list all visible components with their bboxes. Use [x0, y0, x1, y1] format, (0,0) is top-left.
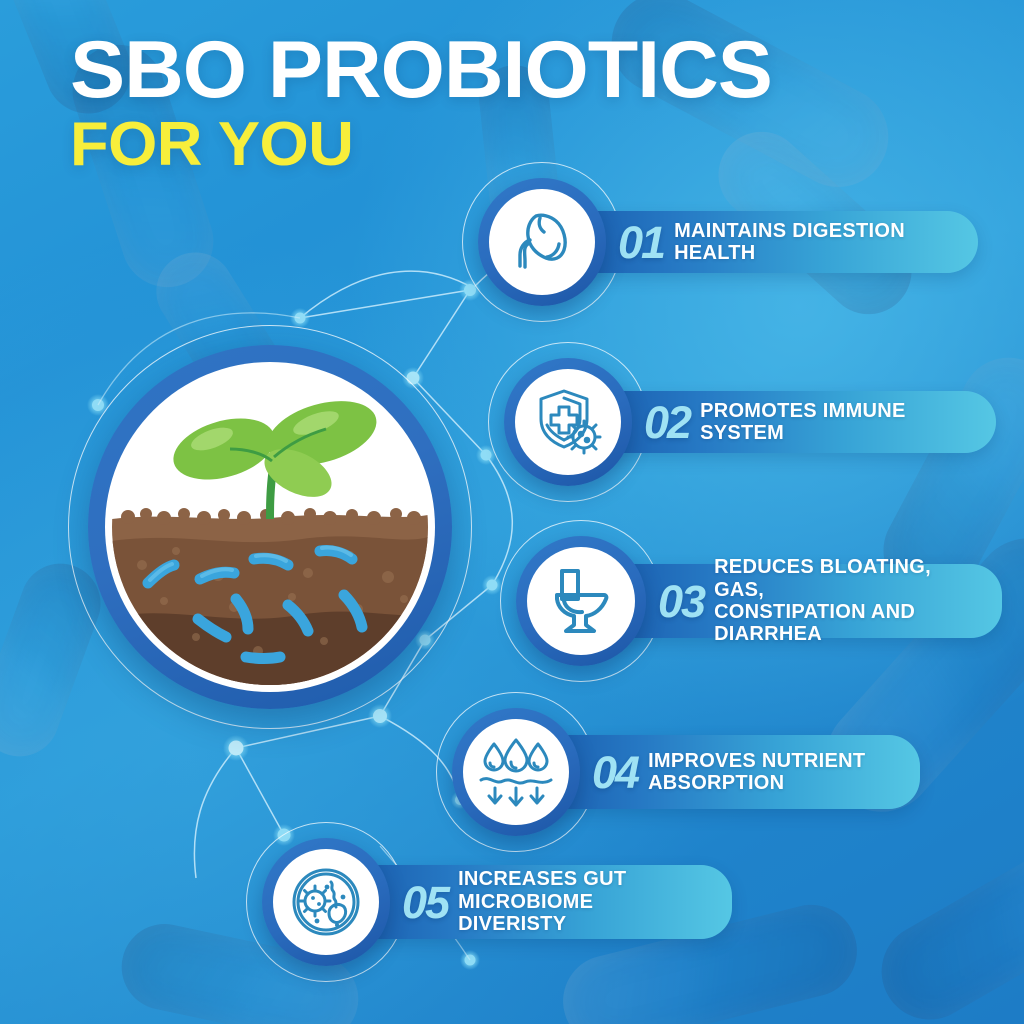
benefit-number-05: 05: [402, 880, 448, 925]
benefit-bar-03: 03 REDUCES BLOATING, GAS, CONSTIPATION A…: [612, 564, 1002, 638]
benefit-bar-01: 01 MAINTAINS DIGESTION HEALTH: [572, 211, 978, 273]
benefit-icon-bubble-04: [452, 708, 580, 836]
benefit-icon-bubble-03: [516, 536, 646, 666]
benefit-label-04: IMPROVES NUTRIENT ABSORPTION: [648, 750, 865, 795]
benefit-label-05: INCREASES GUT MICROBIOME DIVERISTY: [458, 868, 702, 935]
benefit-icon-bubble-01: [478, 178, 606, 306]
infographic-poster: SBO PROBIOTICS FOR YOU: [0, 0, 1024, 1024]
benefit-bar-04: 04 IMPROVES NUTRIENT ABSORPTION: [546, 735, 920, 809]
benefit-item-05[interactable]: 05 INCREASES GUT MICROBIOME DIVERISTY: [262, 838, 732, 966]
shield-virus-icon: [531, 385, 605, 459]
benefit-bar-05: 05 INCREASES GUT MICROBIOME DIVERISTY: [356, 865, 732, 939]
title-block: SBO PROBIOTICS FOR YOU: [70, 33, 758, 174]
stomach-icon: [506, 206, 578, 278]
benefit-number-04: 04: [592, 750, 638, 795]
benefit-number-03: 03: [658, 579, 704, 624]
hero-seedling-circle: [88, 345, 452, 709]
benefit-icon-bubble-02: [504, 358, 632, 486]
benefit-icon-bubble-05: [262, 838, 390, 966]
benefit-bar-02: 02 PROMOTES IMMUNE SYSTEM: [598, 391, 996, 453]
page-title: SBO PROBIOTICS: [70, 33, 772, 108]
petri-dish-microbes-icon: [289, 865, 363, 939]
benefit-item-04[interactable]: 04 IMPROVES NUTRIENT ABSORPTION: [452, 708, 920, 836]
benefit-item-03[interactable]: 03 REDUCES BLOATING, GAS, CONSTIPATION A…: [516, 536, 1002, 666]
toilet-icon: [548, 565, 614, 637]
benefit-item-02[interactable]: 02 PROMOTES IMMUNE SYSTEM: [504, 358, 996, 486]
page-subtitle: FOR YOU: [70, 116, 772, 175]
benefit-number-01: 01: [618, 220, 664, 265]
benefit-label-02: PROMOTES IMMUNE SYSTEM: [700, 400, 966, 445]
benefit-label-03: REDUCES BLOATING, GAS, CONSTIPATION AND …: [714, 556, 972, 646]
water-absorption-icon: [477, 736, 555, 808]
seedling-soil-bacteria-illustration: [112, 369, 428, 685]
benefit-number-02: 02: [644, 400, 690, 445]
benefit-item-01[interactable]: 01 MAINTAINS DIGESTION HEALTH: [478, 178, 978, 306]
benefit-label-01: MAINTAINS DIGESTION HEALTH: [674, 220, 948, 265]
